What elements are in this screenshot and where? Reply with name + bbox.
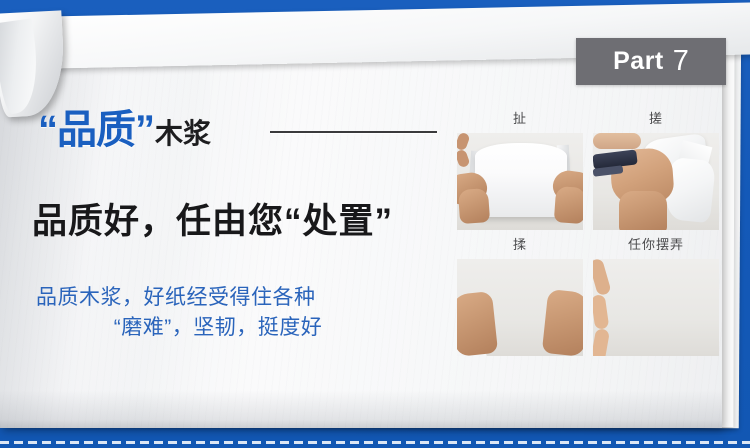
pull-sheet-photo	[457, 133, 583, 230]
photo-cell-knead: 揉	[457, 238, 583, 356]
subcopy-line-2: “磨难”，坚韧，挺度好	[36, 313, 434, 343]
photo-label-rub: 搓	[593, 112, 719, 125]
photo-cell-pull: 扯	[457, 112, 583, 230]
photo-grid-row: 扯 搓	[457, 112, 719, 230]
eyebrow-title: “品质” 木浆	[38, 97, 211, 155]
photo-cell-manipulate: 任你摆弄	[593, 238, 719, 356]
perforation-line	[0, 441, 750, 444]
eyebrow-quoted-text: “品质”	[38, 97, 154, 155]
subcopy-line-1: 品质木浆，好纸经受得住各种	[36, 283, 434, 313]
knead-paper-photo	[457, 259, 583, 356]
promo-banner: Part 7 “品质” 木浆 品质好，任由您“处置” 品质木浆，好纸经受得住各种…	[0, 0, 750, 448]
hand-right	[542, 289, 583, 356]
subcopy-text: 品质木浆，好纸经受得住各种 “磨难”，坚韧，挺度好	[36, 283, 434, 343]
hand-left	[457, 291, 498, 356]
photo-label-pull: 扯	[457, 112, 583, 125]
fist-crush-photo	[593, 133, 719, 230]
photo-grid: 扯 搓	[457, 112, 719, 364]
forearm-right	[554, 186, 583, 224]
knuckles	[593, 133, 641, 149]
part-badge: Part 7	[576, 38, 726, 85]
page-title: 品质好，任由您“处置”	[32, 193, 393, 244]
forearm	[619, 191, 667, 230]
photo-label-manipulate: 任你摆弄	[593, 238, 719, 251]
part-badge-number: 7	[673, 47, 689, 76]
photo-background	[593, 259, 719, 356]
eyebrow-divider	[270, 131, 437, 133]
forearm-left	[458, 188, 490, 224]
part-badge-word: Part	[613, 49, 664, 74]
eyebrow-rest-text: 木浆	[155, 112, 211, 152]
photo-cell-rub: 搓	[593, 112, 719, 230]
crumpled-ball-photo	[593, 259, 719, 356]
photo-label-knead: 揉	[457, 238, 583, 251]
page-bottom-shading	[0, 390, 722, 428]
photo-grid-row: 揉 任你摆弄	[457, 238, 719, 356]
